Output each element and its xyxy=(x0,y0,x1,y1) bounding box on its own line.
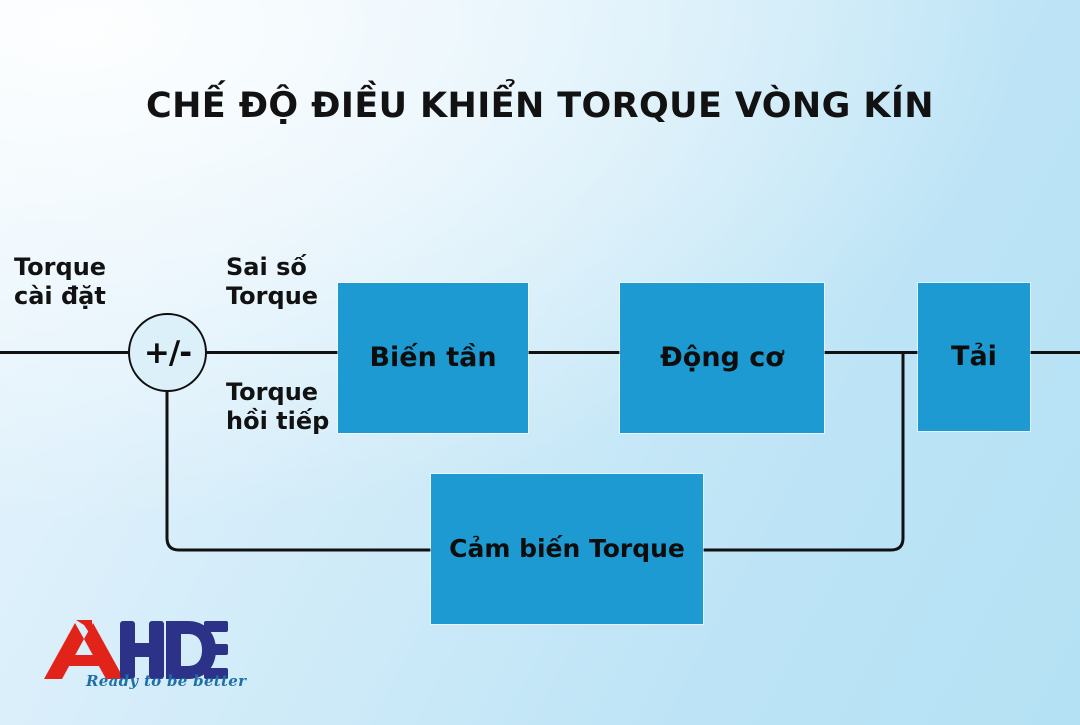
summing-junction: +/- xyxy=(128,313,207,392)
block-motor[interactable]: Động cơ xyxy=(620,283,824,433)
logo-e-icon xyxy=(204,621,228,679)
label-torque-error: Sai số Torque xyxy=(226,253,318,312)
logo-tagline: Ready to be better xyxy=(86,672,246,690)
block-motor-label: Động cơ xyxy=(660,342,784,375)
block-load-label: Tải xyxy=(951,341,997,374)
label-torque-setpoint: Torque cài đặt xyxy=(14,253,106,312)
block-inverter-label: Biến tần xyxy=(369,342,496,375)
block-torque-sensor-label: Cảm biến Torque xyxy=(449,534,685,565)
diagram-canvas: CHẾ ĐỘ ĐIỀU KHIỂN TORQUE VÒNG KÍN +/- Bi… xyxy=(0,0,1080,725)
summing-junction-label: +/- xyxy=(144,335,191,371)
block-inverter[interactable]: Biến tần xyxy=(338,283,528,433)
logo-a-icon xyxy=(44,620,124,679)
label-torque-feedback: Torque hồi tiếp xyxy=(226,378,329,437)
logo-hd-icon xyxy=(120,621,216,679)
block-load[interactable]: Tải xyxy=(918,283,1030,431)
block-torque-sensor[interactable]: Cảm biến Torque xyxy=(431,474,703,624)
